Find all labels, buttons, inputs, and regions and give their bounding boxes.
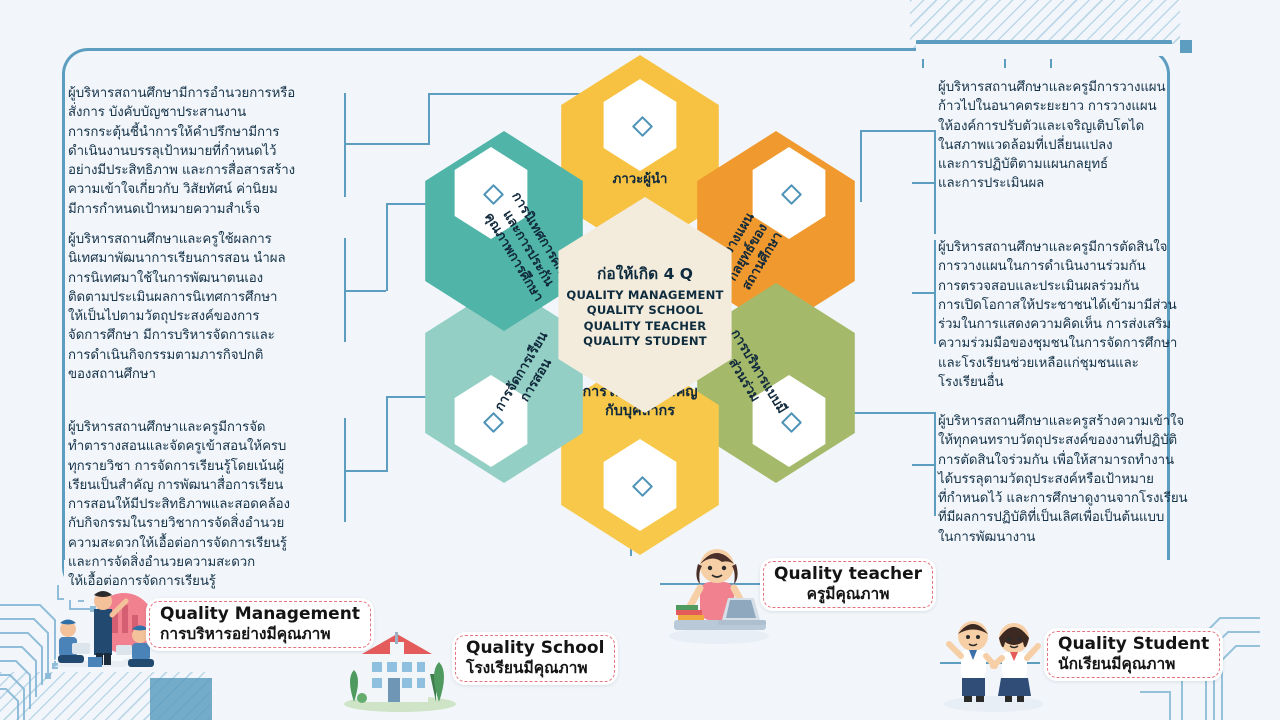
right-paragraph-3: ผู้บริหารสถานศึกษาและครูสร้างความเข้าใจ … <box>938 412 1218 547</box>
callout-quality-management-th: การบริหารอย่างมีคุณภาพ <box>160 625 360 644</box>
infographic-canvas: ภาวะผู้นำ การวางแผน กลยุทธ์ของ สถานศึกษา… <box>0 0 1280 720</box>
core-thai-heading: ก่อให้เกิด 4 Q <box>597 261 693 286</box>
connector-right-3-horizontal <box>912 464 936 466</box>
callout-quality-teacher-th: ครูมีคุณภาพ <box>774 585 922 604</box>
callout-quality-management-en: Quality Management <box>160 604 360 625</box>
connector-left-2-horizontal <box>344 290 386 292</box>
connector-left-3-horizontal <box>344 470 386 472</box>
connector-left-2-riser <box>386 203 388 291</box>
callout-quality-student-en: Quality Student <box>1058 634 1209 655</box>
decor-bar-top-right-cap <box>1180 40 1192 53</box>
callout-quality-student[interactable]: Quality Student นักเรียนมีคุณภาพ <box>1044 628 1223 681</box>
connector-right-2-horizontal <box>912 292 936 294</box>
left-paragraph-2: ผู้บริหารสถานศึกษาและครูใช้ผลการ นิเทศมา… <box>68 230 340 384</box>
frame-gap-mask-top <box>916 44 1178 56</box>
callout-quality-management[interactable]: Quality Management การบริหารอย่างมีคุณภา… <box>146 598 374 651</box>
hexagon-wheel: ภาวะผู้นำ การวางแผน กลยุทธ์ของ สถานศึกษา… <box>400 55 880 555</box>
students-illustration <box>935 608 1053 713</box>
connector-right-1-horizontal <box>912 182 936 184</box>
left-paragraph-1: ผู้บริหารสถานศึกษามีการอำนวยการหรือ สั่ง… <box>68 84 340 219</box>
right-paragraph-2: ผู้บริหารสถานศึกษาและครูมีการตัดสินใจ กา… <box>938 238 1218 392</box>
callout-quality-student-th: นักเรียนมีคุณภาพ <box>1058 655 1209 674</box>
callout-quality-teacher-en: Quality teacher <box>774 564 922 585</box>
core-line-4: QUALITY STUDENT <box>583 334 707 350</box>
connector-left-1-vertical <box>344 93 346 197</box>
callout-quality-school-th: โรงเรียนมีคุณภาพ <box>466 659 604 678</box>
right-paragraph-1: ผู้บริหารสถานศึกษาและครูมีการวางแผน ก้าว… <box>938 78 1218 194</box>
core-line-1: QUALITY MANAGEMENT <box>566 288 723 304</box>
callout-quality-teacher[interactable]: Quality teacher ครูมีคุณภาพ <box>760 558 936 611</box>
callout-quality-school-en: Quality School <box>466 638 604 659</box>
callout-quality-school[interactable]: Quality School โรงเรียนมีคุณภาพ <box>452 632 618 685</box>
connector-left-3-riser <box>386 396 388 472</box>
core-line-2: QUALITY SCHOOL <box>587 303 703 319</box>
core-line-3: QUALITY TEACHER <box>584 319 707 335</box>
